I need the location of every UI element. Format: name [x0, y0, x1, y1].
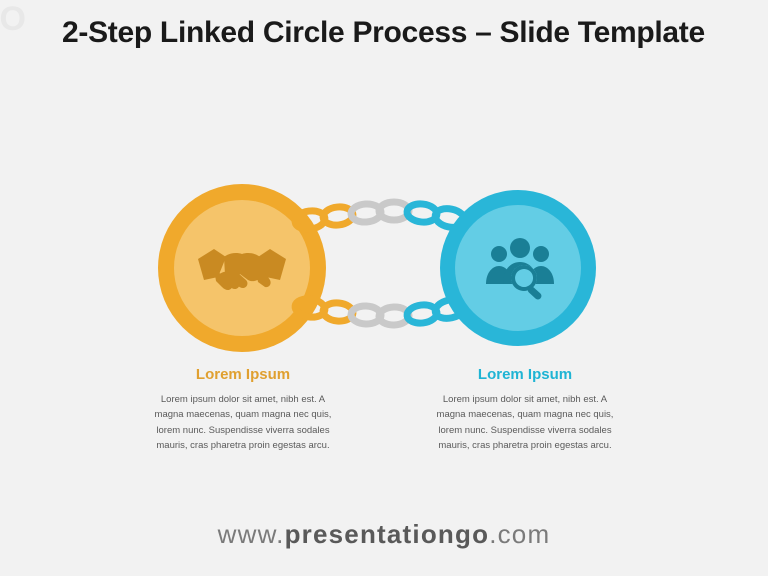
footer-website: www.presentationgo.com [0, 519, 768, 550]
step-2-body: Lorem ipsum dolor sit amet, nibh est. A … [430, 392, 620, 454]
step-1-text-block: Lorem Ipsum Lorem ipsum dolor sit amet, … [148, 366, 338, 454]
step-2-text-block: Lorem Ipsum Lorem ipsum dolor sit amet, … [430, 366, 620, 454]
handshake-icon [196, 228, 288, 308]
footer-prefix: www. [218, 519, 285, 549]
page-title: 2-Step Linked Circle Process – Slide Tem… [62, 14, 752, 52]
watermark-logo: GO [0, 0, 36, 40]
footer-suffix: go [455, 519, 489, 549]
diagram-canvas: Lorem Ipsum Lorem ipsum dolor sit amet, … [0, 0, 768, 576]
footer-tld: .com [489, 519, 550, 549]
footer-brand: presentation [285, 519, 455, 549]
people-search-icon [484, 232, 556, 304]
step-1-heading: Lorem Ipsum [148, 366, 338, 383]
step-2-heading: Lorem Ipsum [430, 366, 620, 383]
step-1-body: Lorem ipsum dolor sit amet, nibh est. A … [148, 392, 338, 454]
